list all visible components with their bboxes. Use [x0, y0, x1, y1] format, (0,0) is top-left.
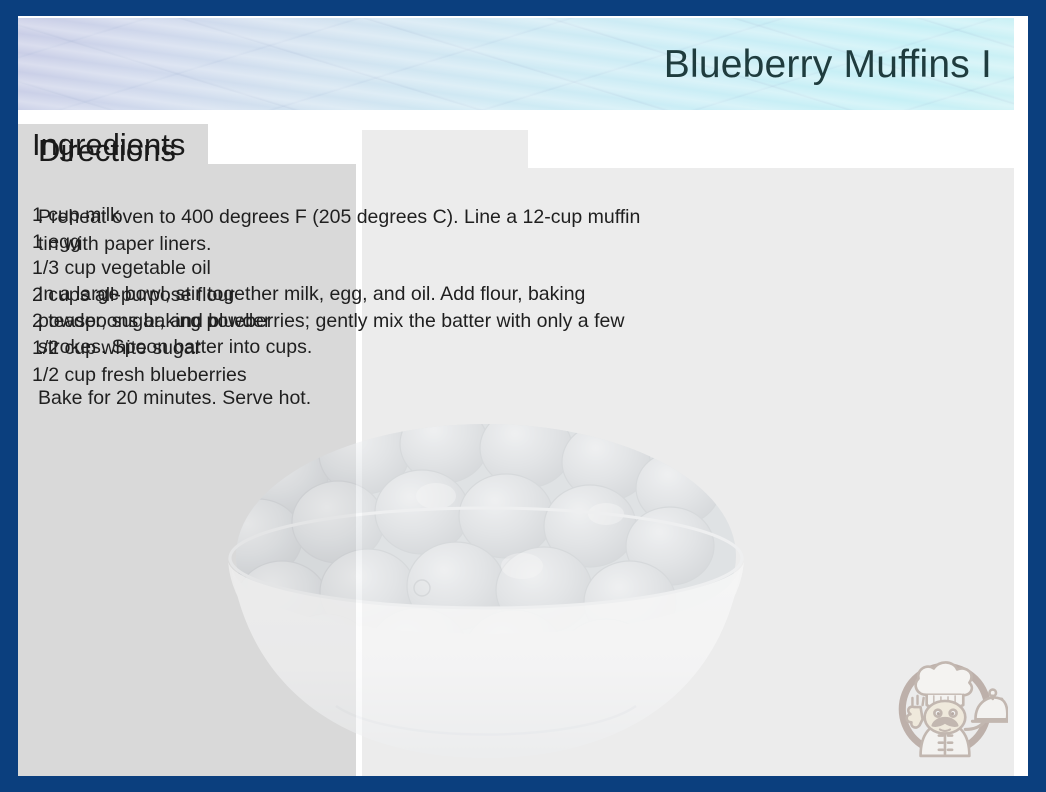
- directions-paragraph: Bake for 20 minutes. Serve hot.: [38, 385, 654, 412]
- page-title: Blueberry Muffins I: [664, 42, 992, 88]
- slide-page: Blueberry Muffins I Ingredients 1 cup mi…: [18, 16, 1028, 776]
- content-area: Ingredients 1 cup milk 1 egg 1/3 cup veg…: [18, 110, 1014, 776]
- directions-paragraph: In a large bowl, stir together milk, egg…: [38, 281, 654, 361]
- directions-body: Preheat oven to 400 degrees F (205 degre…: [38, 204, 654, 411]
- directions-heading: Directions: [38, 132, 176, 170]
- title-banner: Blueberry Muffins I: [18, 18, 1014, 110]
- slide-frame: Blueberry Muffins I Ingredients 1 cup mi…: [0, 0, 1046, 792]
- directions-tab: [362, 130, 528, 168]
- directions-paragraph: Preheat oven to 400 degrees F (205 degre…: [38, 204, 654, 257]
